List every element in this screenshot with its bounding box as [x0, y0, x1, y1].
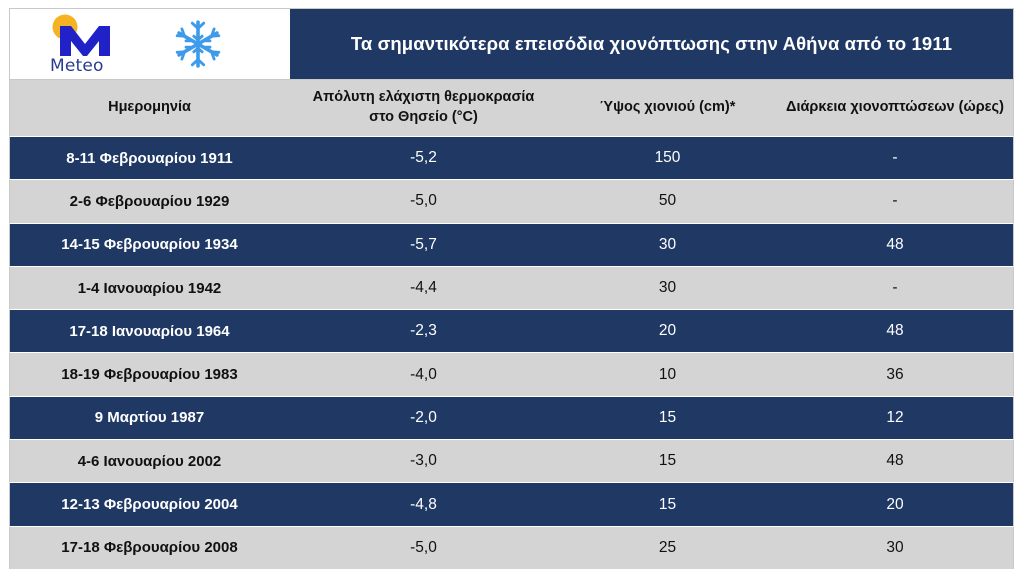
row-cell-temperature: -5,2	[289, 137, 558, 179]
table-row: 2-6 Φεβρουαρίου 1929-5,050-	[9, 180, 1014, 222]
letter-m-icon	[60, 26, 110, 56]
row-cell-snow-height: 30	[558, 267, 777, 309]
row-cell-date: 17-18 Φεβρουαρίου 2008	[10, 527, 289, 569]
row-cell-duration: 30	[777, 527, 1013, 569]
row-cell-snow-height: 20	[558, 310, 777, 352]
row-cell-duration: 48	[777, 310, 1013, 352]
row-cell-duration: -	[777, 267, 1013, 309]
row-cell-temperature: -4,8	[289, 483, 558, 525]
meteo-logo: Meteo	[38, 13, 146, 75]
row-cell-temperature: -3,0	[289, 440, 558, 482]
table-row: 17-18 Φεβρουαρίου 2008-5,02530	[9, 527, 1014, 569]
column-header-date: Ημερομηνία	[10, 80, 289, 136]
row-cell-duration: 20	[777, 483, 1013, 525]
table-header-band: Meteo	[9, 8, 1014, 80]
table-row: 9 Μαρτίου 1987-2,01512	[9, 396, 1014, 440]
row-cell-date: 14-15 Φεβρουαρίου 1934	[10, 224, 289, 266]
row-cell-duration: 12	[777, 397, 1013, 439]
meteo-wordmark: Meteo	[50, 56, 104, 76]
row-cell-temperature: -2,3	[289, 310, 558, 352]
row-cell-duration: -	[777, 180, 1013, 222]
table-row: 1-4 Ιανουαρίου 1942-4,430-	[9, 267, 1014, 309]
row-cell-temperature: -4,0	[289, 353, 558, 395]
row-cell-snow-height: 25	[558, 527, 777, 569]
table-row: 18-19 Φεβρουαρίου 1983-4,01036	[9, 353, 1014, 395]
column-header-snow-height: Ύψος χιονιού (cm)*	[558, 80, 777, 136]
table-row: 8-11 Φεβρουαρίου 1911-5,2150-	[9, 136, 1014, 180]
row-cell-snow-height: 150	[558, 137, 777, 179]
brand-logo-cell: Meteo	[10, 9, 289, 79]
table-row: 14-15 Φεβρουαρίου 1934-5,73048	[9, 223, 1014, 267]
table-row: 4-6 Ιανουαρίου 2002-3,01548	[9, 440, 1014, 482]
row-cell-date: 9 Μαρτίου 1987	[10, 397, 289, 439]
row-cell-duration: 48	[777, 440, 1013, 482]
row-cell-snow-height: 15	[558, 483, 777, 525]
table-container: Meteo	[9, 8, 1014, 569]
row-cell-date: 18-19 Φεβρουαρίου 1983	[10, 353, 289, 395]
page-title: Τα σημαντικότερα επεισόδια χιονόπτωσης σ…	[341, 33, 962, 55]
row-cell-temperature: -5,0	[289, 180, 558, 222]
row-cell-date: 12-13 Φεβρουαρίου 2004	[10, 483, 289, 525]
row-cell-date: 8-11 Φεβρουαρίου 1911	[10, 137, 289, 179]
snow-episodes-table-page: Meteo	[0, 0, 1024, 577]
row-cell-temperature: -4,4	[289, 267, 558, 309]
row-cell-snow-height: 10	[558, 353, 777, 395]
row-cell-snow-height: 30	[558, 224, 777, 266]
row-cell-snow-height: 15	[558, 397, 777, 439]
column-header-duration: Διάρκεια χιονοπτώσεων (ώρες)	[777, 80, 1013, 136]
table-title-cell: Τα σημαντικότερα επεισόδια χιονόπτωσης σ…	[289, 9, 1013, 79]
column-header-temperature: Απόλυτη ελάχιστη θερμοκρασία στο Θησείο …	[289, 80, 558, 136]
row-cell-date: 2-6 Φεβρουαρίου 1929	[10, 180, 289, 222]
row-cell-duration: 48	[777, 224, 1013, 266]
row-cell-snow-height: 50	[558, 180, 777, 222]
table-row: 12-13 Φεβρουαρίου 2004-4,81520	[9, 482, 1014, 526]
column-header-row: Ημερομηνία Απόλυτη ελάχιστη θερμοκρασία …	[9, 80, 1014, 136]
table-row: 17-18 Ιανουαρίου 1964-2,32048	[9, 309, 1014, 353]
column-header-temperature-line2: στο Θησείο (°C)	[369, 109, 478, 125]
row-cell-duration: -	[777, 137, 1013, 179]
row-cell-date: 4-6 Ιανουαρίου 2002	[10, 440, 289, 482]
row-cell-temperature: -5,0	[289, 527, 558, 569]
row-cell-temperature: -5,7	[289, 224, 558, 266]
table-body: 8-11 Φεβρουαρίου 1911-5,2150-2-6 Φεβρουα…	[9, 136, 1014, 569]
row-cell-temperature: -2,0	[289, 397, 558, 439]
row-cell-duration: 36	[777, 353, 1013, 395]
snowflake-cell	[146, 18, 289, 70]
column-header-temperature-line1: Απόλυτη ελάχιστη θερμοκρασία	[313, 89, 535, 105]
row-cell-snow-height: 15	[558, 440, 777, 482]
row-cell-date: 17-18 Ιανουαρίου 1964	[10, 310, 289, 352]
row-cell-date: 1-4 Ιανουαρίου 1942	[10, 267, 289, 309]
snowflake-icon	[172, 18, 224, 70]
